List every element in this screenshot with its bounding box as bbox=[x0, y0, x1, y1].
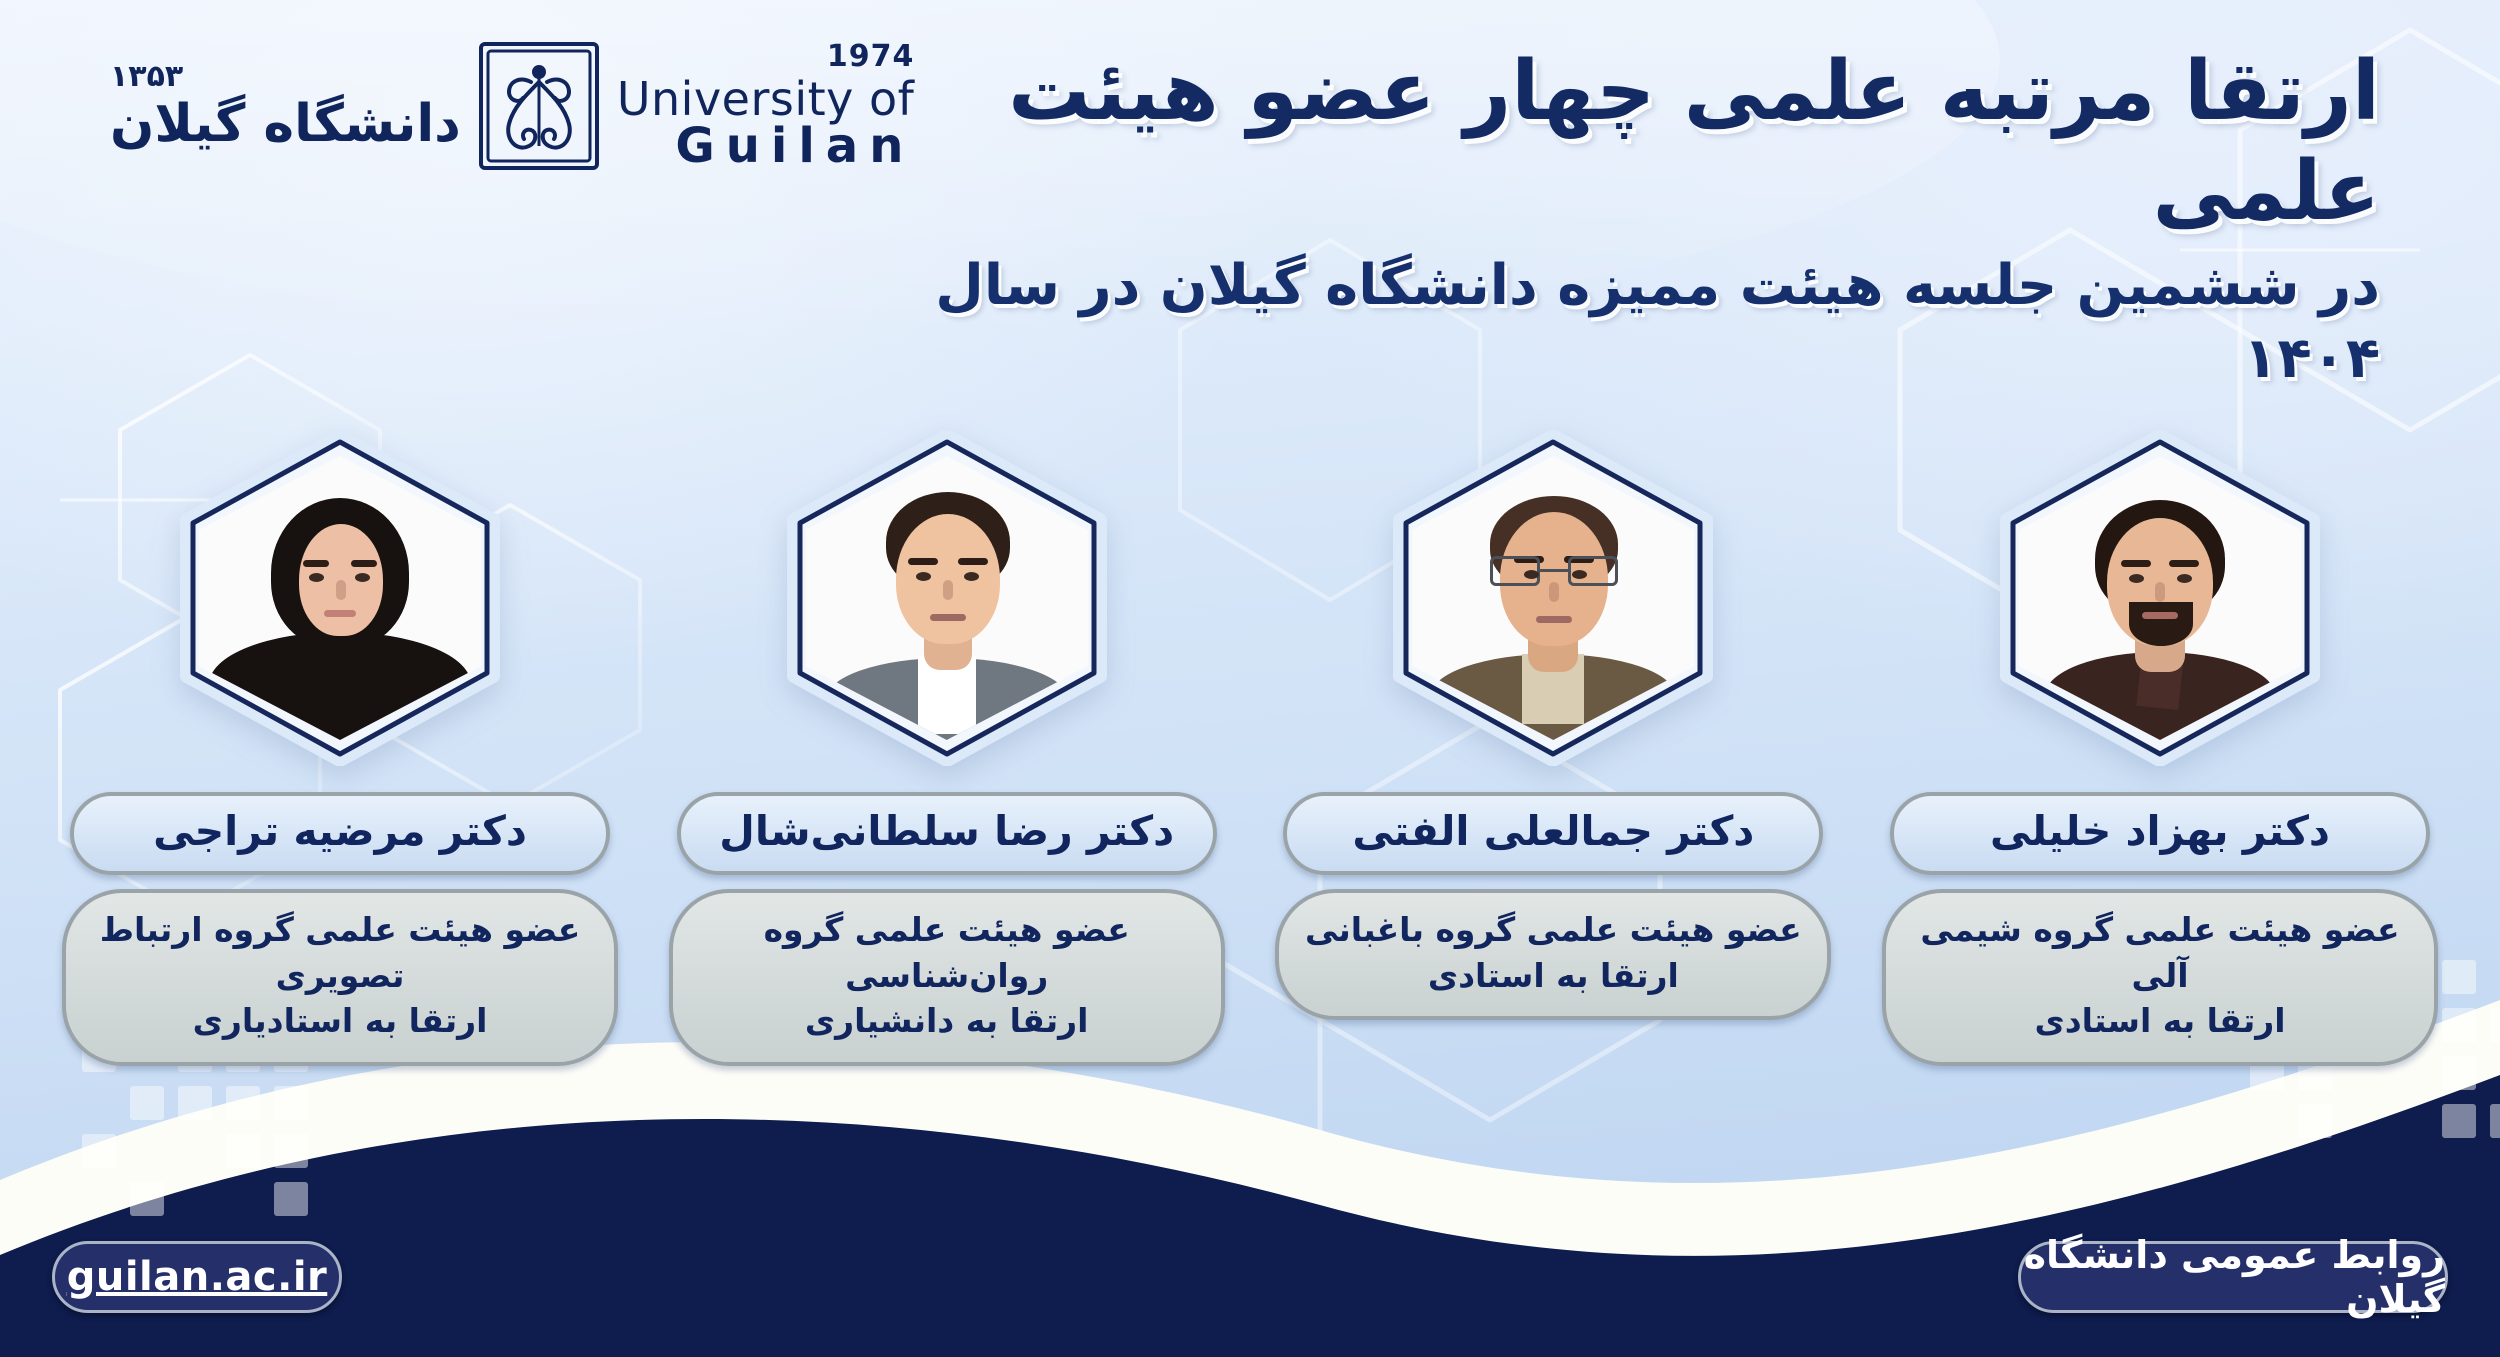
poster-header: 1974 University of Guilan ۱۳۵۳ د bbox=[0, 0, 2500, 300]
avatar bbox=[782, 430, 1112, 766]
person-role: عضو هیئت علمی گروه شیمی آلی ارتقا به است… bbox=[1882, 889, 2438, 1066]
university-logo: 1974 University of Guilan ۱۳۵۳ د bbox=[110, 38, 914, 174]
logo-persian-text: ۱۳۵۳ دانشگاه گیلان bbox=[110, 62, 461, 150]
person-name: دکتر جمالعلی الفتی bbox=[1283, 792, 1823, 875]
person-name: دکتر مرضیه تراجی bbox=[70, 792, 610, 875]
person-role: عضو هیئت علمی گروه باغبانی ارتقا به استا… bbox=[1275, 889, 1831, 1020]
public-relations-badge: روابط عمومی دانشگاه گیلان bbox=[2018, 1241, 2448, 1313]
person-card: دکتر جمالعلی الفتی عضو هیئت علمی گروه با… bbox=[1273, 430, 1833, 1066]
page-subtitle: در ششمین جلسه هیئت ممیزه دانشگاه گیلان د… bbox=[820, 250, 2380, 396]
person-name: دکتر رضا سلطانی‌شال bbox=[677, 792, 1217, 875]
person-role-line1: عضو هیئت علمی گروه ارتباط تصویری bbox=[90, 907, 590, 998]
guilan-emblem-icon bbox=[475, 38, 603, 174]
title-block: ارتقا مرتبه علمی چهار عضو هیئت علمی در ش… bbox=[820, 42, 2380, 396]
avatar bbox=[1388, 430, 1718, 766]
person-role-line2: ارتقا به دانشیاری bbox=[697, 998, 1197, 1044]
person-role-line2: ارتقا به استادی bbox=[1910, 998, 2410, 1044]
person-card: دکتر بهزاد خلیلی عضو هیئت علمی گروه شیمی… bbox=[1880, 430, 2440, 1066]
person-role-line1: عضو هیئت علمی گروه روان‌شناسی bbox=[697, 907, 1197, 998]
website-link[interactable]: guilan.ac.ir bbox=[52, 1241, 342, 1313]
logo-year-fa: ۱۳۵۳ bbox=[110, 62, 461, 92]
people-row: دکتر بهزاد خلیلی عضو هیئت علمی گروه شیمی… bbox=[0, 430, 2500, 1066]
person-role-line2: ارتقا به استادیاری bbox=[90, 998, 590, 1044]
person-role: عضو هیئت علمی گروه روان‌شناسی ارتقا به د… bbox=[669, 889, 1225, 1066]
person-card: دکتر رضا سلطانی‌شال عضو هیئت علمی گروه ر… bbox=[667, 430, 1227, 1066]
person-name: دکتر بهزاد خلیلی bbox=[1890, 792, 2430, 875]
poster-canvas: 1974 University of Guilan ۱۳۵۳ د bbox=[0, 0, 2500, 1357]
logo-name-fa: دانشگاه گیلان bbox=[110, 98, 461, 150]
person-role-line2: ارتقا به استادی bbox=[1303, 953, 1803, 999]
person-card: دکتر مرضیه تراجی عضو هیئت علمی گروه ارتب… bbox=[60, 430, 620, 1066]
avatar bbox=[1995, 430, 2325, 766]
person-role-line1: عضو هیئت علمی گروه شیمی آلی bbox=[1910, 907, 2410, 998]
page-title: ارتقا مرتبه علمی چهار عضو هیئت علمی bbox=[820, 42, 2380, 242]
person-role: عضو هیئت علمی گروه ارتباط تصویری ارتقا ب… bbox=[62, 889, 618, 1066]
avatar bbox=[175, 430, 505, 766]
person-role-line1: عضو هیئت علمی گروه باغبانی bbox=[1303, 907, 1803, 953]
